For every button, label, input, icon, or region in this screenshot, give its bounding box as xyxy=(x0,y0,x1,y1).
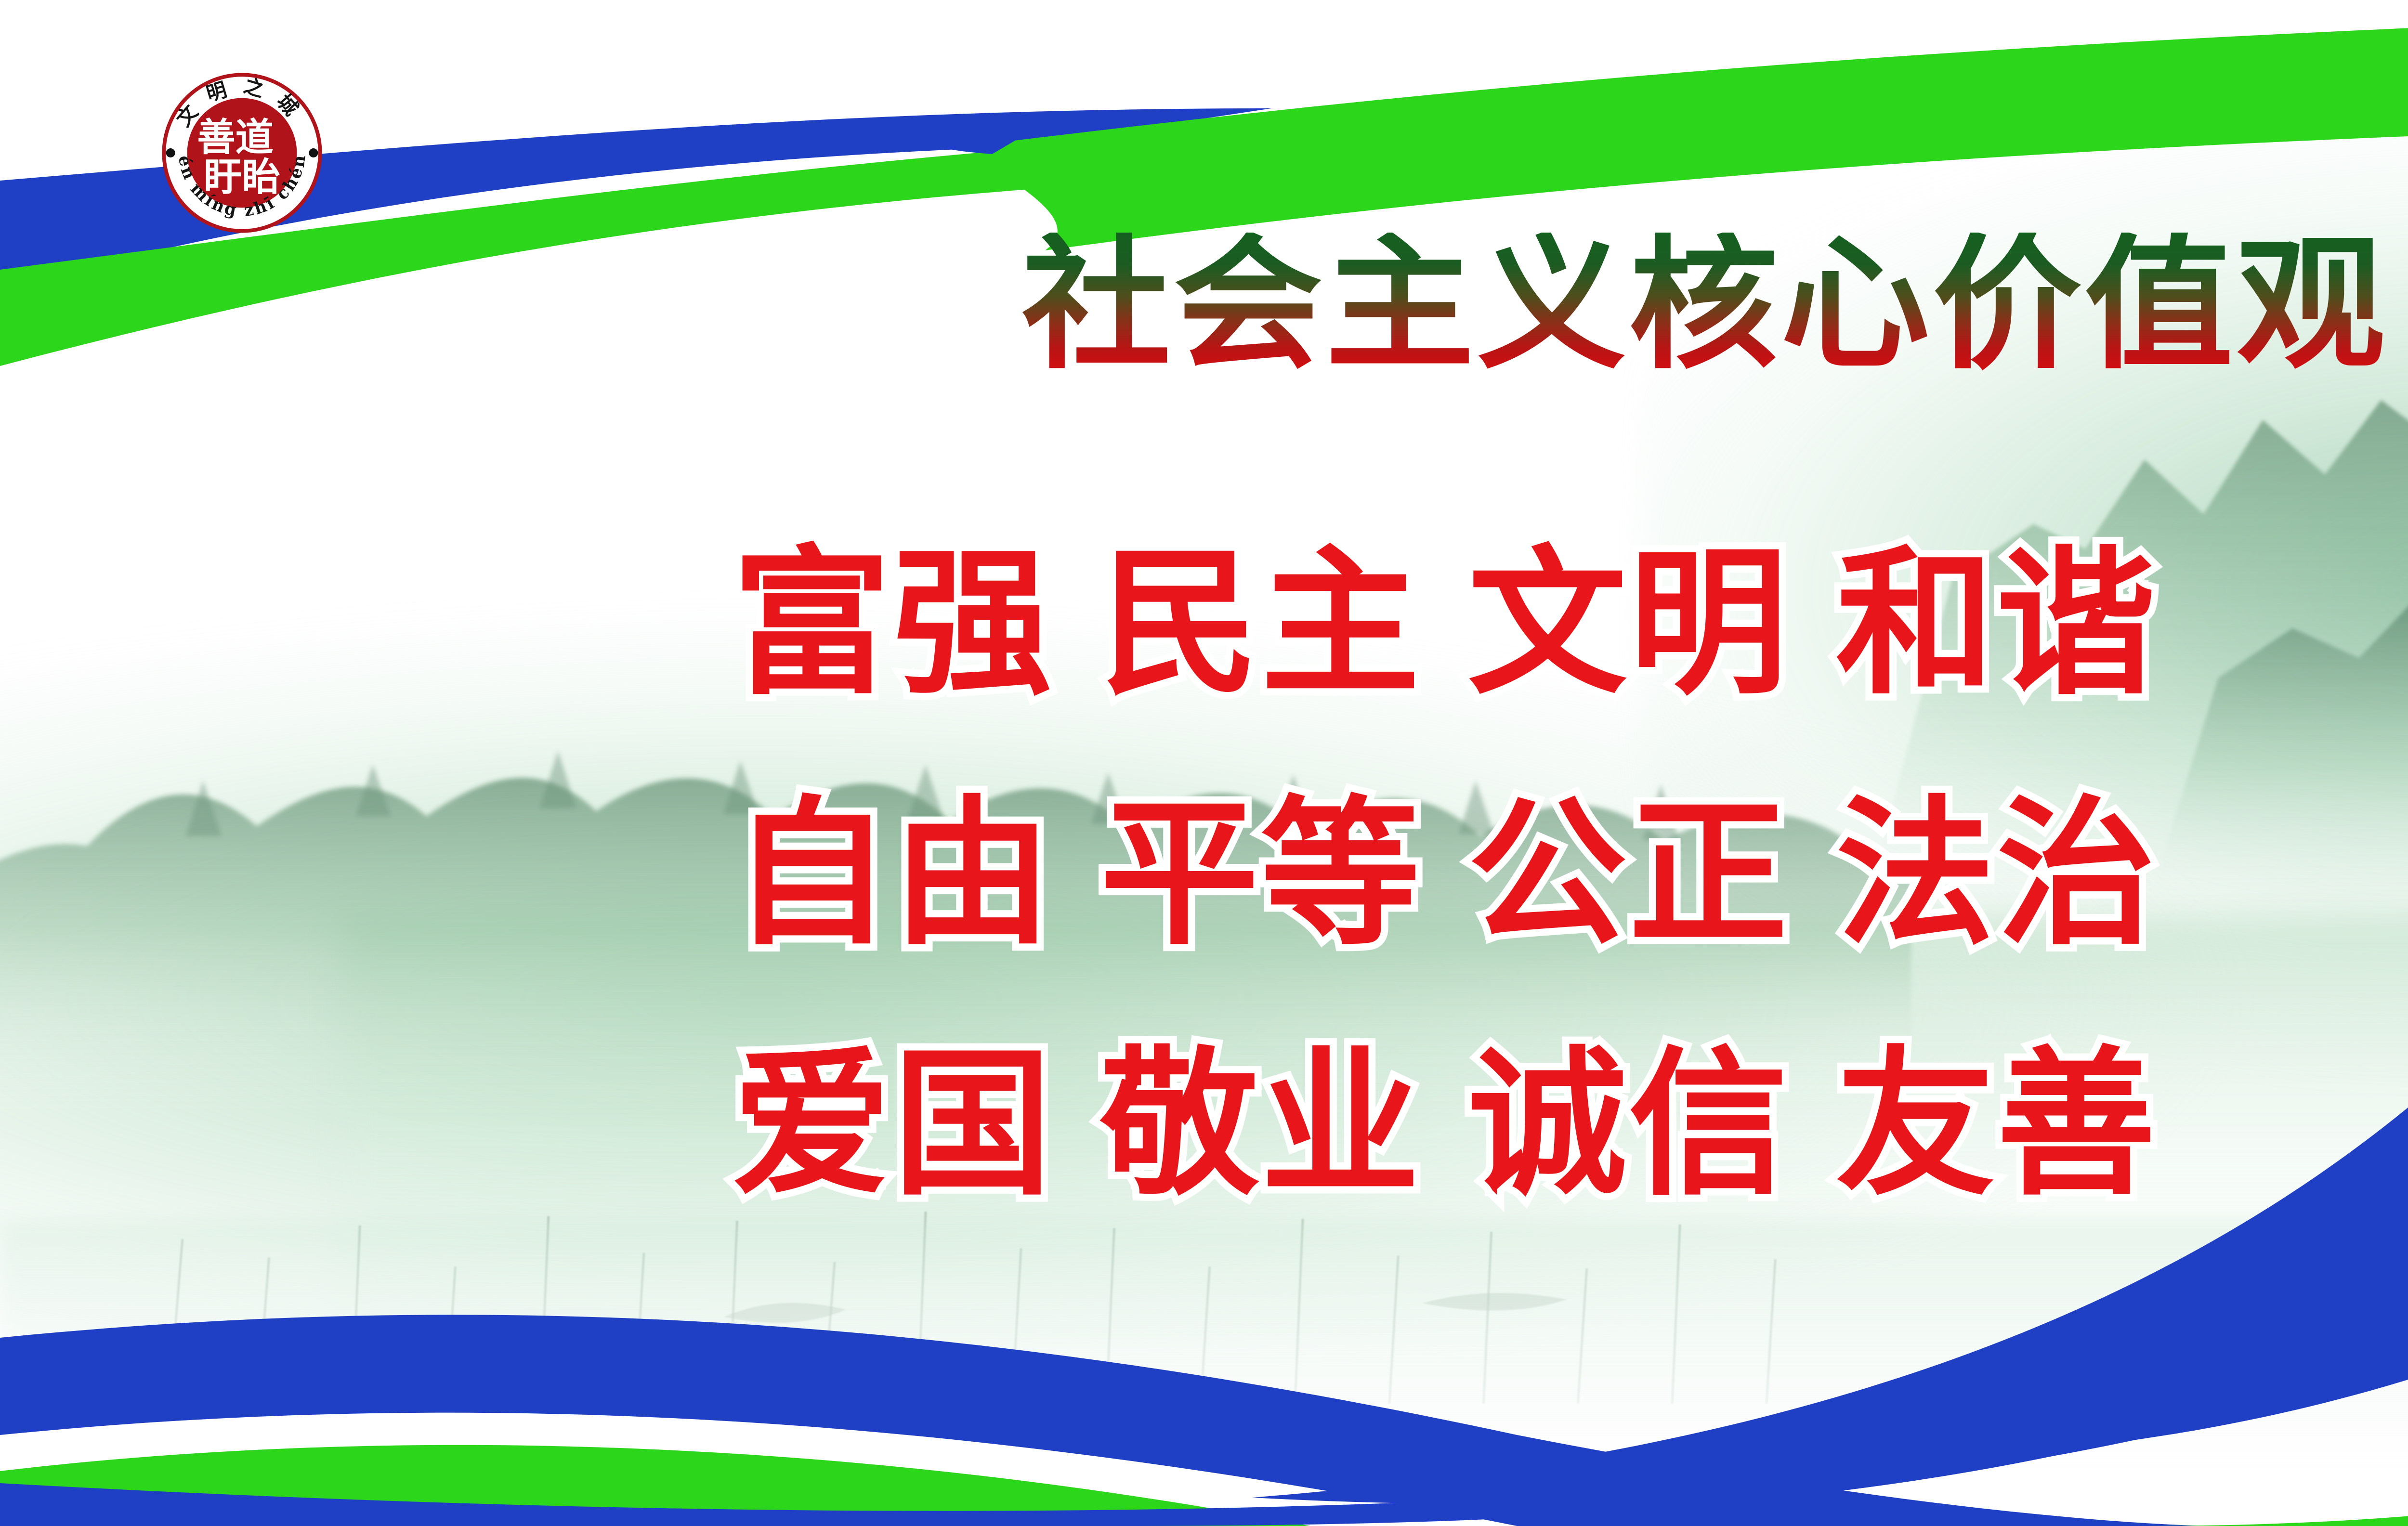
propaganda-board: 文明之城 wén míng zhī chéng 善道 盱眙 社会主义核心价值观 … xyxy=(0,0,2408,1526)
value-term: 平等平等 xyxy=(1100,795,1422,953)
values-row-1: 富强富强 民主民主 文明文明 和谐和谐 xyxy=(732,498,2408,749)
value-term: 诚信诚信 xyxy=(1468,1045,1790,1204)
main-title-text: 社会主义核心价值观 xyxy=(1022,233,2388,377)
values-row-2: 自由自由 平等平等 公正公正 法治法治 xyxy=(732,749,2408,999)
value-term: 民主民主 xyxy=(1100,544,1422,703)
value-term: 友善友善 xyxy=(1836,1045,2158,1204)
values-row-3: 爱国爱国 敬业敬业 诚信诚信 友善友善 xyxy=(732,999,2408,1250)
value-term: 和谐和谐 xyxy=(1836,544,2158,703)
value-term: 公正公正 xyxy=(1468,795,1790,953)
city-emblem[interactable]: 文明之城 wén míng zhī chéng 善道 盱眙 xyxy=(159,70,325,236)
value-term: 文明文明 xyxy=(1468,544,1790,703)
value-term: 敬业敬业 xyxy=(1100,1045,1422,1204)
core-values-rows: 富强富强 民主民主 文明文明 和谐和谐 自由自由 平等平等 公正公正 法治法治 … xyxy=(732,498,2408,1250)
value-term: 法治法治 xyxy=(1836,795,2158,953)
value-term: 爱国爱国 xyxy=(732,1045,1054,1204)
emblem-dot-right xyxy=(309,148,318,157)
value-term: 自由自由 xyxy=(732,795,1054,953)
emblem-center-line1: 善道 盱眙 xyxy=(197,115,287,199)
emblem-dot-left xyxy=(166,148,175,157)
value-term: 富强富强 xyxy=(732,544,1054,703)
water-surface xyxy=(0,1221,2408,1465)
main-title: 社会主义核心价值观 xyxy=(852,225,2408,384)
emblem-svg: 文明之城 wén míng zhī chéng 善道 盱眙 xyxy=(159,70,325,236)
